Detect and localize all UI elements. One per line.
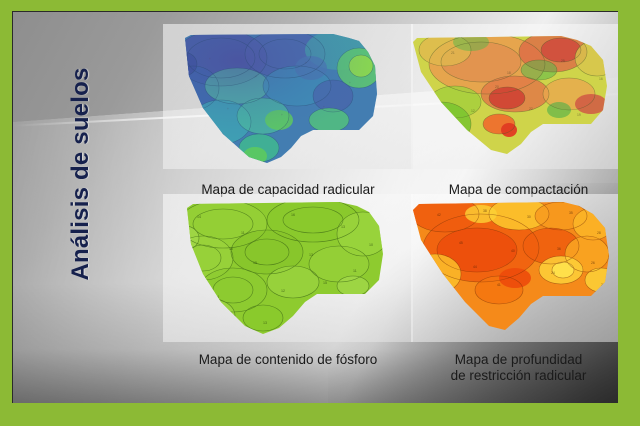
svg-text:+: + <box>209 57 211 61</box>
svg-text:+: + <box>255 75 257 79</box>
svg-text:40: 40 <box>511 249 515 253</box>
svg-text:16: 16 <box>291 213 295 217</box>
svg-text:11: 11 <box>241 231 245 235</box>
svg-text:9: 9 <box>435 139 437 143</box>
svg-text:19: 19 <box>577 113 581 117</box>
svg-text:26: 26 <box>591 261 595 265</box>
map-caption-line-1: Mapa de profundidad <box>411 352 618 368</box>
svg-text:+: + <box>305 61 307 65</box>
svg-text:28: 28 <box>597 231 601 235</box>
map-caption-line-2: de restricción radicular <box>411 368 618 384</box>
svg-text:38: 38 <box>483 209 487 213</box>
svg-text:+: + <box>281 113 283 117</box>
svg-text:20: 20 <box>495 85 499 89</box>
page-title: Análisis de suelos <box>61 54 101 294</box>
svg-text:9: 9 <box>203 319 205 323</box>
map-cell-compactacion[interactable]: 211825 161222 91920 Mapa de compactación <box>411 24 618 198</box>
map-capacidad-radicular[interactable]: +++ +++ ++ <box>163 24 413 169</box>
svg-text:36: 36 <box>557 247 561 251</box>
map-profundidad-restriccion-radicular[interactable]: 423830 352845 403626 324124 292744 <box>411 194 618 342</box>
svg-text:29: 29 <box>443 309 447 313</box>
svg-text:12: 12 <box>281 289 285 293</box>
map-cell-profundidad-restriccion[interactable]: 423830 352845 403626 324124 292744 Mapa … <box>411 194 618 383</box>
svg-text:35: 35 <box>569 211 573 215</box>
slide: Análisis de suelos <box>0 0 640 426</box>
svg-text:+: + <box>227 107 229 111</box>
svg-text:44: 44 <box>473 265 477 269</box>
svg-text:14: 14 <box>197 215 201 219</box>
svg-text:11: 11 <box>353 269 357 273</box>
map-caption-contenido-fosforo: Mapa de contenido de fósforo <box>163 352 413 368</box>
svg-text:12: 12 <box>191 265 195 269</box>
map-compactacion[interactable]: 211825 161222 91920 <box>411 24 618 169</box>
svg-text:45: 45 <box>459 241 463 245</box>
svg-text:41: 41 <box>497 283 501 287</box>
svg-text:18: 18 <box>507 71 511 75</box>
slide-panel: Análisis de suelos <box>12 11 618 403</box>
svg-text:16: 16 <box>599 77 603 81</box>
svg-text:10: 10 <box>369 243 373 247</box>
map-cell-contenido-fosforo[interactable]: 141116 131012 151311 14129 131510 Mapa d… <box>163 194 413 368</box>
map-caption-profundidad-restriccion: Mapa de profundidad de restricción radic… <box>411 352 618 383</box>
svg-text:30: 30 <box>527 215 531 219</box>
field-contour-map: 141116 131012 151311 14129 131510 <box>163 194 413 342</box>
field-contour-map: +++ +++ ++ <box>163 24 413 169</box>
svg-text:13: 13 <box>263 321 267 325</box>
svg-text:15: 15 <box>323 281 327 285</box>
svg-text:22: 22 <box>529 107 533 111</box>
svg-text:+: + <box>323 105 325 109</box>
svg-text:25: 25 <box>561 59 565 63</box>
svg-text:+: + <box>349 81 351 85</box>
svg-text:13: 13 <box>309 253 313 257</box>
svg-text:32: 32 <box>431 279 435 283</box>
svg-text:13: 13 <box>341 225 345 229</box>
svg-text:+: + <box>199 133 201 137</box>
svg-text:42: 42 <box>437 213 441 217</box>
page-title-rotated: Análisis de suelos <box>61 54 101 294</box>
svg-text:15: 15 <box>253 261 257 265</box>
field-contour-map: 211825 161222 91920 <box>411 24 618 169</box>
svg-text:14: 14 <box>215 295 219 299</box>
svg-text:24: 24 <box>551 271 555 275</box>
svg-text:27: 27 <box>601 283 605 287</box>
field-contour-map: 423830 352845 403626 324124 292744 <box>411 194 618 342</box>
map-contenido-fosforo[interactable]: 141116 131012 151311 14129 131510 <box>163 194 413 342</box>
map-cell-capacidad-radicular[interactable]: +++ +++ ++ Mapa de capacidad radicular <box>163 24 413 198</box>
svg-text:10: 10 <box>229 247 233 251</box>
svg-text:21: 21 <box>451 51 455 55</box>
svg-text:12: 12 <box>471 109 475 113</box>
